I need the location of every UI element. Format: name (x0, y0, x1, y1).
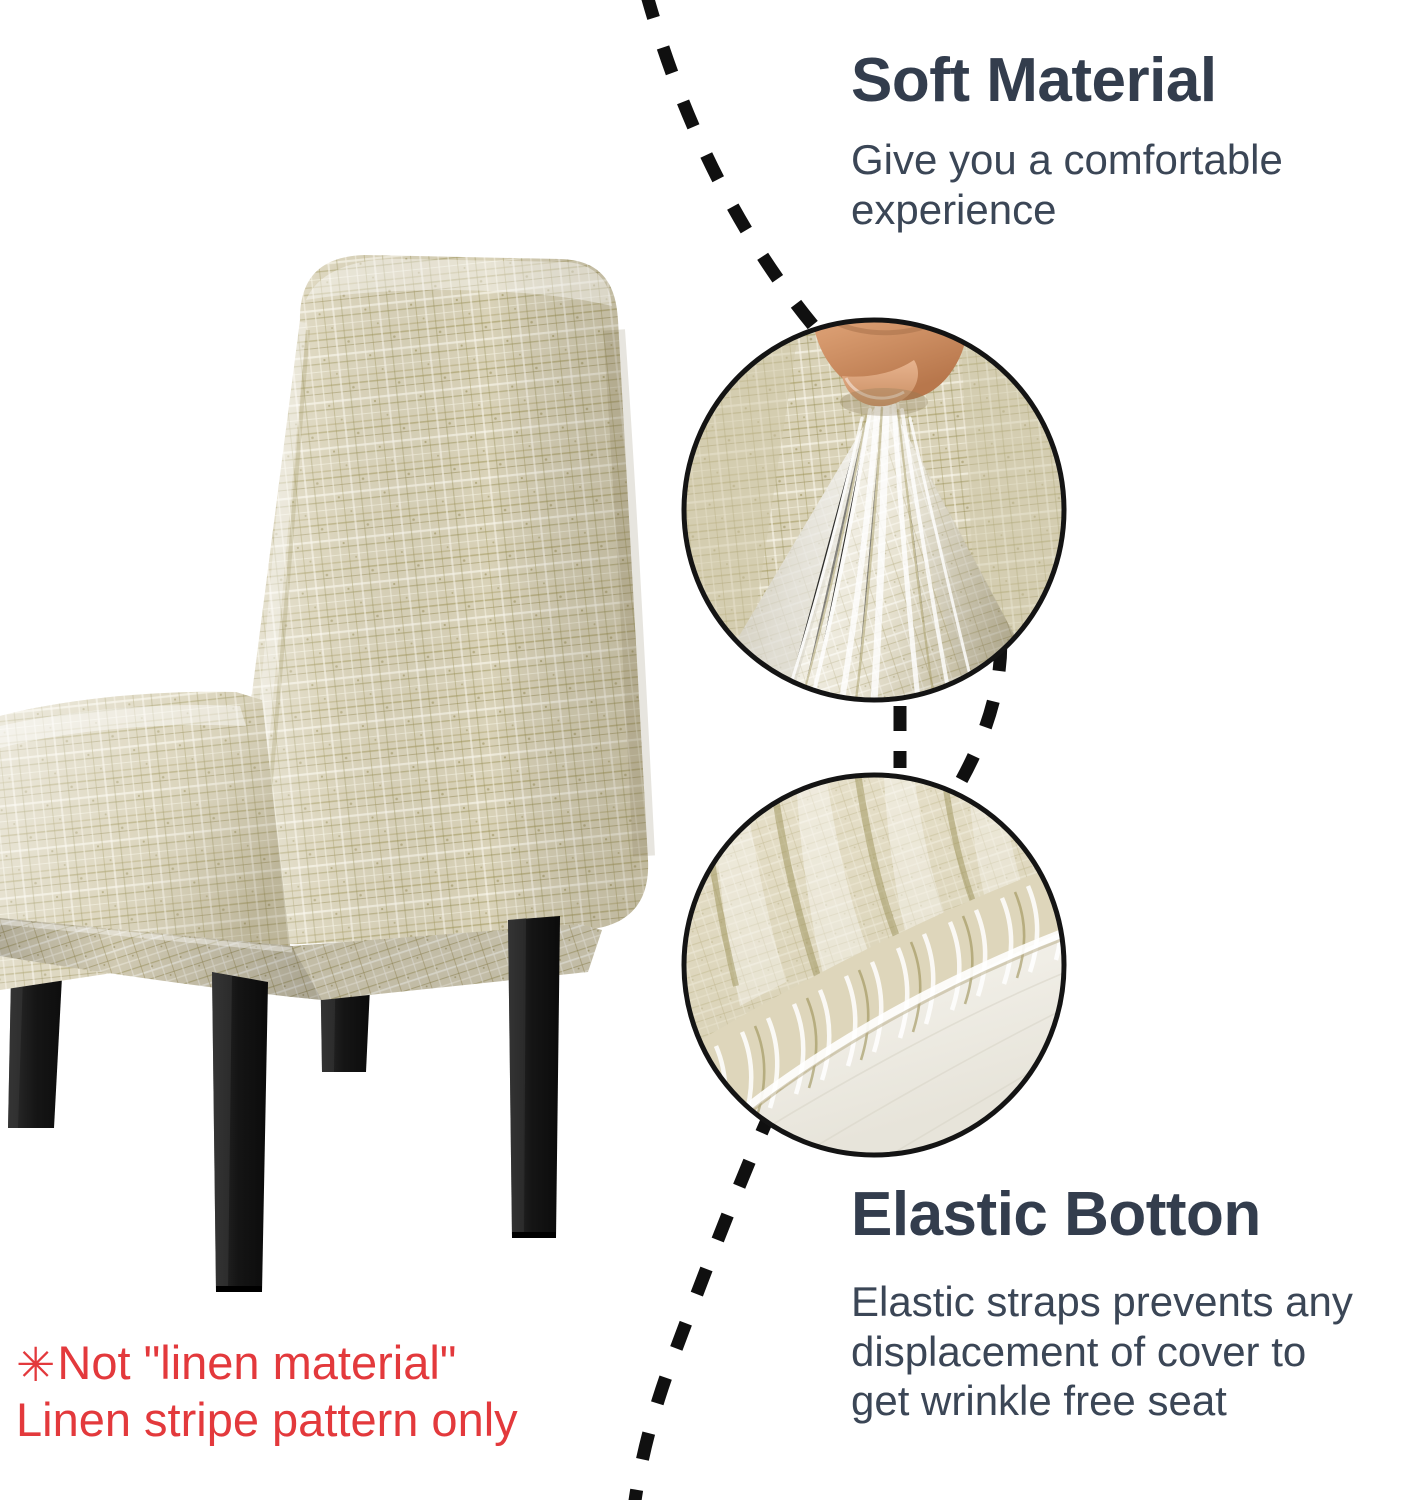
feature-elastic-bottom: Elastic Botton Elastic straps prevents a… (851, 1182, 1353, 1426)
elastic-bottom-heading: Elastic Botton (851, 1182, 1353, 1247)
disclaimer-line-1: ✳Not "linen material" (16, 1336, 518, 1391)
chair-leg-front-left (212, 972, 268, 1292)
material-disclaimer: ✳Not "linen material" Linen stripe patte… (16, 1336, 518, 1448)
feature-soft-material: Soft Material Give you a comfortable exp… (851, 48, 1283, 234)
chair-leg-front-right (508, 916, 560, 1238)
soft-material-heading: Soft Material (851, 48, 1283, 113)
infographic-canvas: Soft Material Give you a comfortable exp… (0, 0, 1425, 1500)
disclaimer-line-2: Linen stripe pattern only (16, 1393, 518, 1448)
disclaimer-text-1: Not "linen material" (57, 1336, 456, 1389)
chair-back (228, 255, 648, 944)
soft-material-line-1: Give you a comfortable (851, 135, 1283, 185)
elastic-bottom-description: Elastic straps prevents any displacement… (851, 1277, 1353, 1426)
soft-material-line-2: experience (851, 185, 1283, 235)
soft-material-description: Give you a comfortable experience (851, 135, 1283, 234)
elastic-bottom-line-3: get wrinkle free seat (851, 1376, 1353, 1426)
elastic-bottom-line-2: displacement of cover to (851, 1327, 1353, 1377)
asterisk-icon: ✳ (16, 1338, 55, 1393)
elastic-bottom-line-1: Elastic straps prevents any (851, 1277, 1353, 1327)
